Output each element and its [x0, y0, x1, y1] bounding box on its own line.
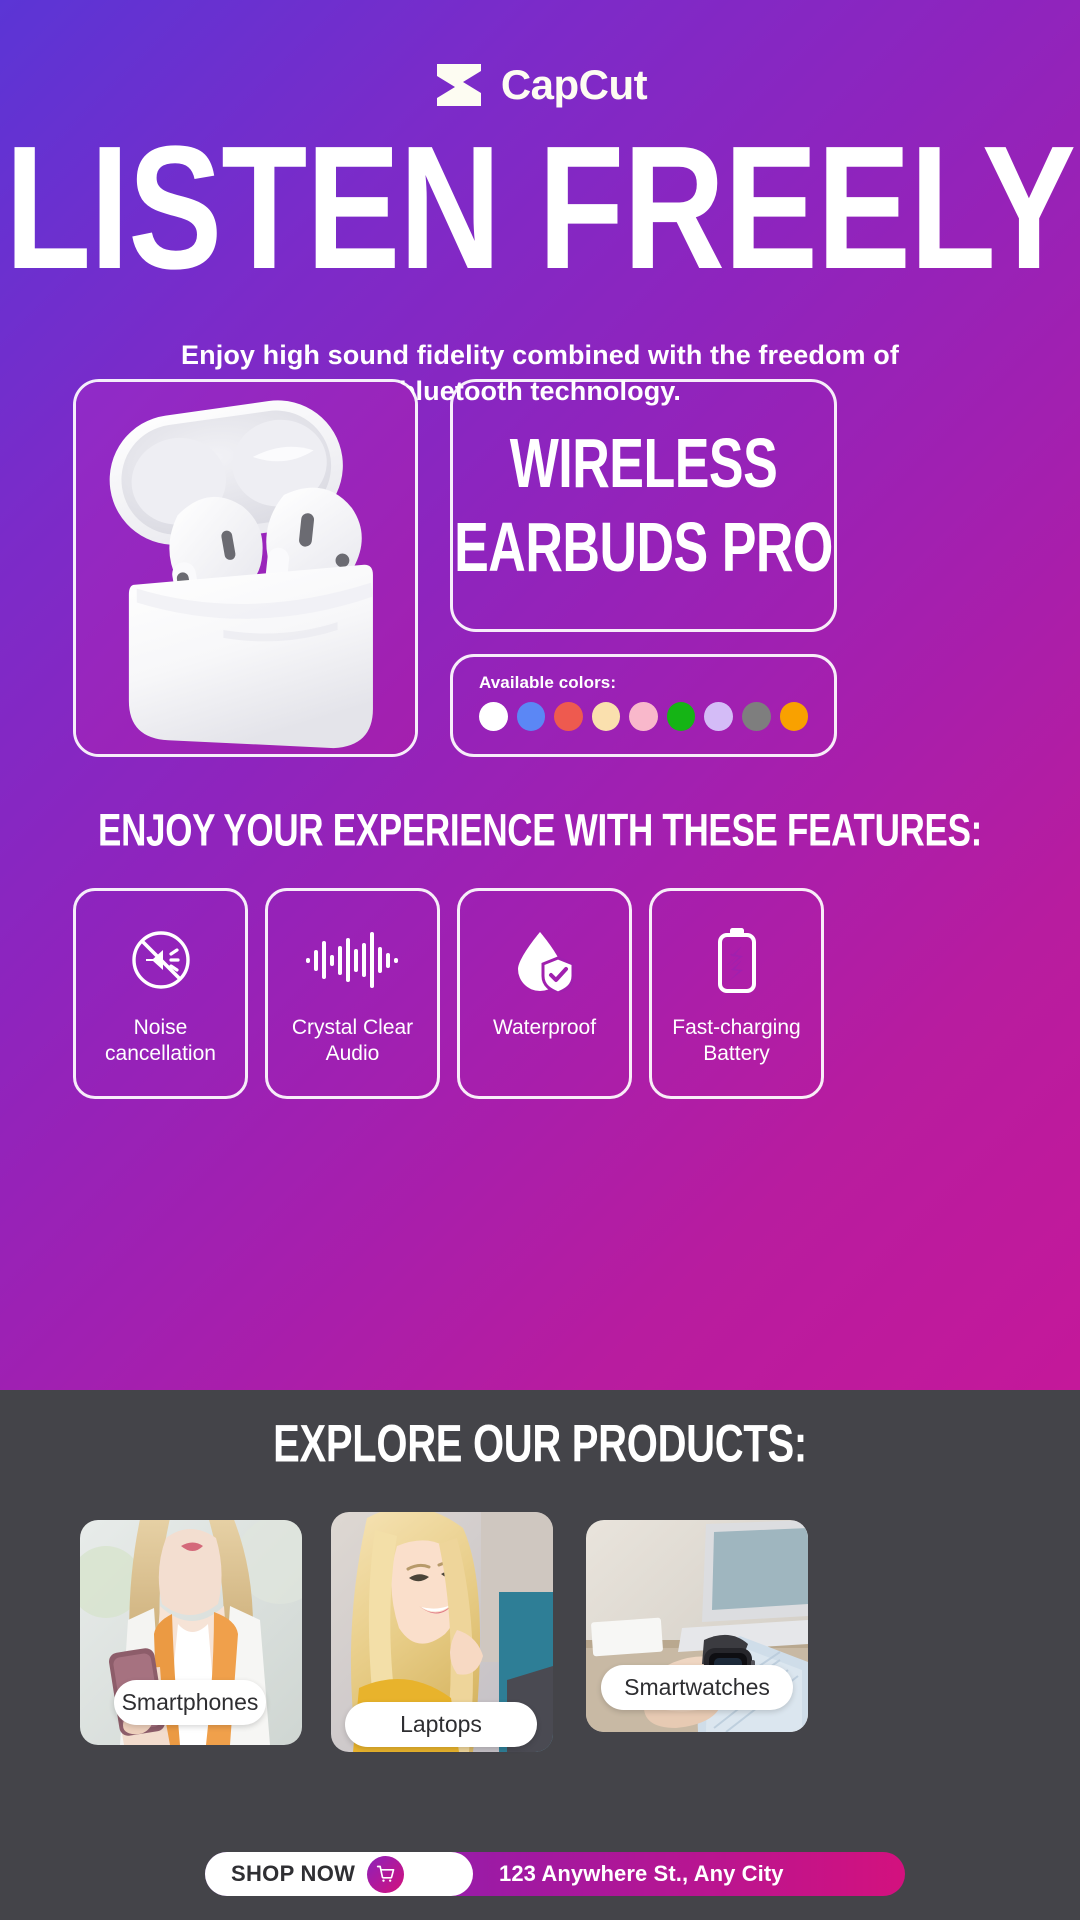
- product-label-smartphones[interactable]: Smartphones: [114, 1680, 266, 1725]
- feature-card-waterproof[interactable]: Waterproof: [457, 888, 632, 1099]
- capcut-bowtie-logo-icon: [433, 62, 485, 108]
- color-swatch-green[interactable]: [667, 702, 696, 731]
- color-swatch-pink[interactable]: [629, 702, 658, 731]
- audio-waveform-icon: [303, 927, 403, 993]
- color-swatch-orange[interactable]: [780, 702, 809, 731]
- feature-label-line-1: Crystal Clear: [292, 1016, 413, 1039]
- explore-heading: EXPLORE OUR PRODUCTS:: [0, 1418, 1080, 1471]
- hero-section: CapCut LISTEN FREELY Enjoy high sound fi…: [0, 0, 1080, 1390]
- feature-card-crystal-clear-audio[interactable]: Crystal Clear Audio: [265, 888, 440, 1099]
- shopping-cart-icon: [367, 1856, 404, 1893]
- product-title-line-2: EARBUDS PRO: [454, 513, 833, 583]
- feature-label-fast-charging-battery: Fast-charging Battery: [666, 1015, 806, 1068]
- product-category-list: [0, 1512, 1080, 1772]
- page-title: LISTEN FREELY: [0, 132, 1080, 286]
- product-image-card: [73, 379, 418, 757]
- color-swatch-coral-red[interactable]: [554, 702, 583, 731]
- color-swatch-lavender[interactable]: [704, 702, 733, 731]
- feature-label-line-1: Noise: [134, 1016, 188, 1039]
- shop-now-button[interactable]: SHOP NOW: [205, 1852, 473, 1896]
- feature-label-noise-cancellation: Noise cancellation: [99, 1015, 222, 1068]
- color-swatch-blue[interactable]: [517, 702, 546, 731]
- feature-label-crystal-clear-audio: Crystal Clear Audio: [286, 1015, 419, 1068]
- color-swatch-white[interactable]: [479, 702, 508, 731]
- footer-cta-bar: SHOP NOW 123 Anywhere St., Any City: [205, 1852, 905, 1896]
- product-title-card: WIRELESS EARBUDS PRO: [450, 379, 837, 632]
- feature-label-line-1: Fast-charging: [672, 1016, 800, 1039]
- feature-label-waterproof: Waterproof: [487, 1015, 602, 1041]
- available-colors-card: Available colors:: [450, 654, 837, 757]
- product-label-laptops[interactable]: Laptops: [345, 1702, 537, 1747]
- noise-cancellation-icon: [130, 927, 192, 993]
- feature-label-line-2: Audio: [326, 1042, 380, 1065]
- product-label-smartwatches[interactable]: Smartwatches: [601, 1665, 793, 1710]
- shop-now-label: SHOP NOW: [231, 1861, 355, 1887]
- color-swatch-cream[interactable]: [592, 702, 621, 731]
- color-swatch-list: [479, 702, 808, 731]
- feature-label-line-2: cancellation: [105, 1042, 216, 1065]
- features-list: Noise cancellation: [73, 888, 1007, 1099]
- earbuds-product-image: [76, 382, 415, 754]
- features-heading: ENJOY YOUR EXPERIENCE WITH THESE FEATURE…: [0, 808, 1080, 854]
- footer-address: 123 Anywhere St., Any City: [499, 1852, 784, 1896]
- available-colors-label: Available colors:: [479, 673, 808, 693]
- feature-card-fast-charging-battery[interactable]: Fast-charging Battery: [649, 888, 824, 1099]
- color-swatch-gray[interactable]: [742, 702, 771, 731]
- feature-label-line-2: Battery: [703, 1042, 770, 1065]
- poster-page: CapCut LISTEN FREELY Enjoy high sound fi…: [0, 0, 1080, 1920]
- product-title-line-1: WIRELESS: [510, 429, 778, 499]
- battery-charging-icon: [711, 927, 763, 993]
- brand-name: CapCut: [501, 64, 647, 106]
- feature-card-noise-cancellation[interactable]: Noise cancellation: [73, 888, 248, 1099]
- feature-label-line-1: Waterproof: [493, 1016, 596, 1039]
- waterproof-droplet-icon: [512, 927, 578, 993]
- brand-logo: CapCut: [0, 62, 1080, 108]
